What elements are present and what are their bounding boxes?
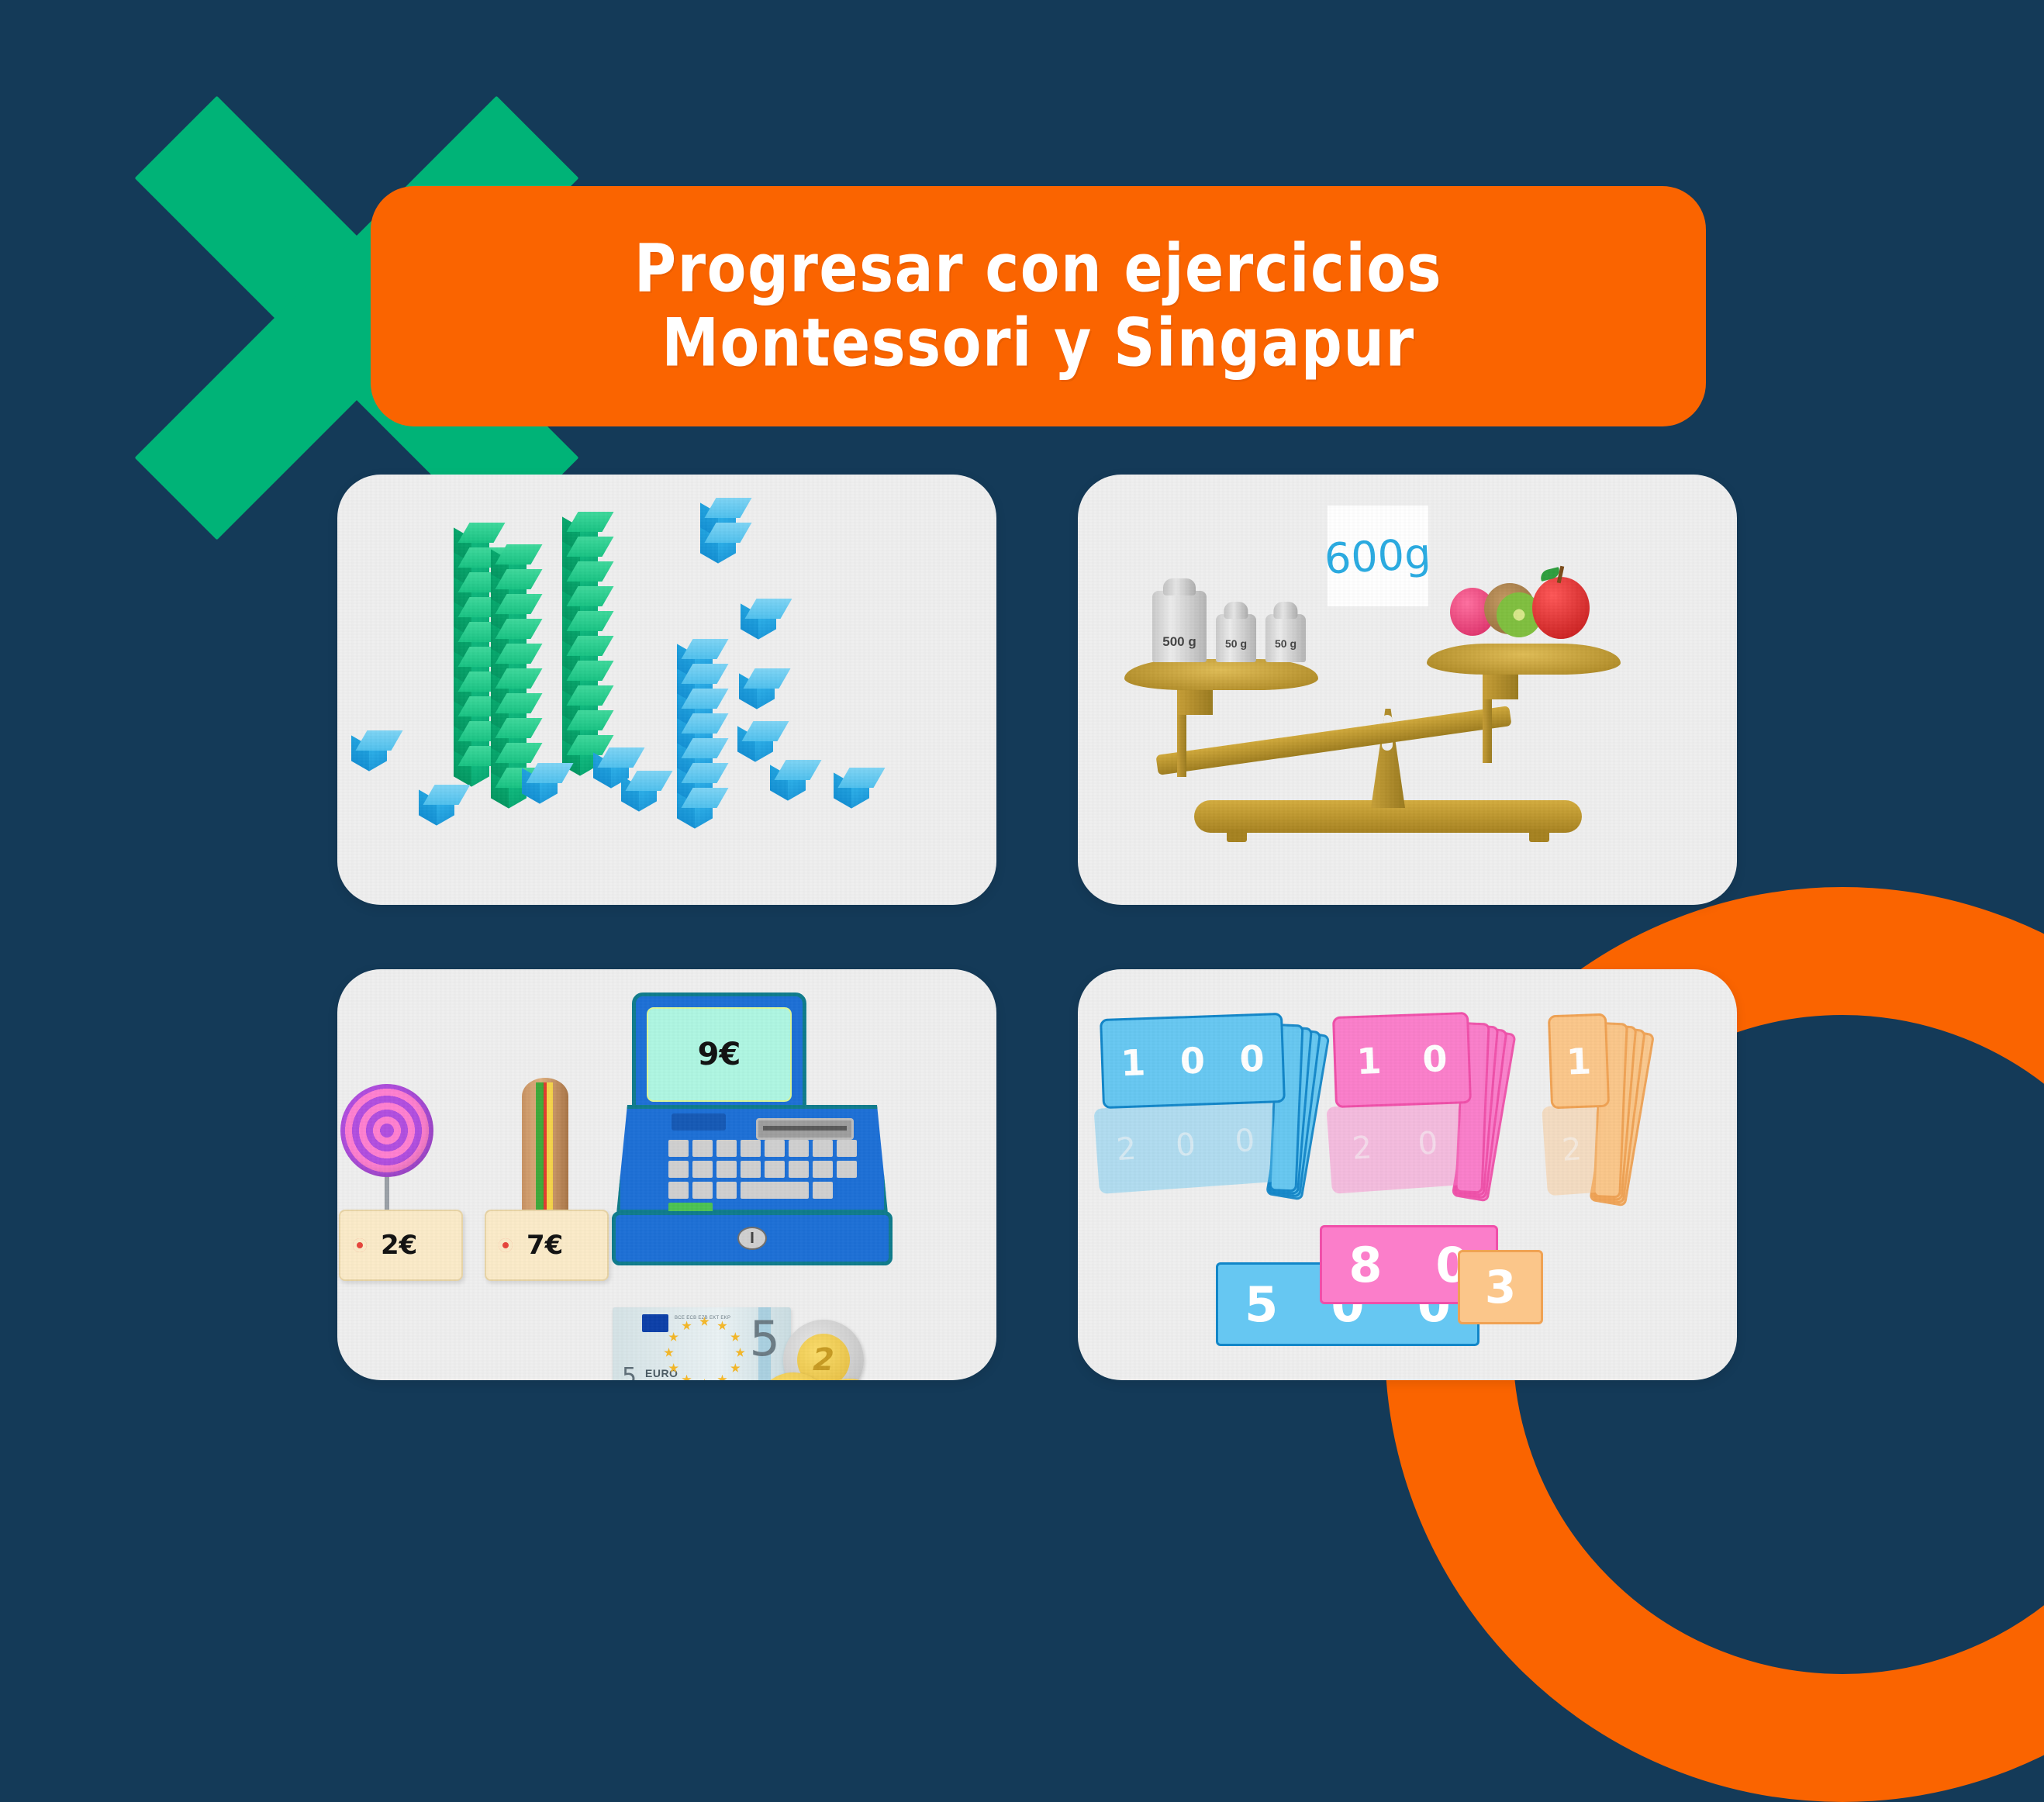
eu-star-icon: [730, 1332, 741, 1342]
weight-500g-label: 500 g: [1162, 634, 1196, 662]
place-value-fold-digit: 2: [1561, 1131, 1583, 1169]
eu-stars-icon: [654, 1314, 755, 1380]
place-value-stack-1[interactable]: 21: [1549, 1014, 1650, 1216]
card-balance-scale[interactable]: 600g 500 g 50 g 50 g: [1078, 475, 1737, 905]
money-shop-illustration: 2€ 7€ 9€: [337, 969, 996, 1380]
place-value-digit: 1: [1566, 1040, 1592, 1082]
page-title-line-2: Montessori y Singapur: [634, 306, 1442, 381]
place-value-fold-digit: 0: [1175, 1127, 1197, 1164]
blue-unit-cube: [351, 730, 391, 776]
eu-star-icon: [735, 1348, 745, 1358]
blue-unit-cube: [770, 760, 810, 806]
composed-number-digit: 8: [1348, 1237, 1382, 1293]
place-value-fold-digit: 0: [1234, 1123, 1256, 1160]
price-tag-hole-icon: [353, 1238, 367, 1252]
scale-foot-left: [1227, 830, 1247, 842]
page-title-line-1: Progresar con ejercicios: [634, 232, 1442, 306]
place-value-fold-digit: 0: [1417, 1125, 1439, 1162]
place-value-stack-100[interactable]: 200100: [1101, 1016, 1326, 1210]
scale-pan-left: [1124, 659, 1318, 690]
poster-stage: Progresar con ejercicios Montessori y Si…: [0, 0, 2044, 1538]
handwritten-weight-value: 600g: [1324, 529, 1432, 583]
place-value-card-front-10[interactable]: 10: [1332, 1012, 1472, 1108]
blue-unit-cube: [700, 523, 740, 568]
place-value-card-front-1[interactable]: 1: [1548, 1013, 1610, 1110]
place-value-card-fold-10: 20: [1326, 1098, 1463, 1194]
weight-50g-b: 50 g: [1265, 614, 1306, 662]
place-value-stack-10[interactable]: 2010: [1334, 1014, 1512, 1211]
cash-register-icon: 9€: [616, 992, 927, 1287]
cash-register-drawer: [612, 1211, 893, 1265]
cash-register-total: 9€: [698, 1037, 741, 1072]
blue-unit-cube: [419, 785, 458, 830]
price-tag-hole-icon: [499, 1238, 513, 1252]
place-value-fold-digit: 2: [1351, 1130, 1373, 1167]
cash-register-keypad: [668, 1140, 857, 1220]
place-value-card-front-100[interactable]: 100: [1100, 1013, 1286, 1109]
banknote-5-euro: BCE ECB EZB EKT EKP 5 5 EURO myBlee: [613, 1307, 791, 1380]
cash-register-body: [616, 1105, 888, 1213]
price-tag-lollipop: 2€: [339, 1210, 463, 1281]
lollipop-icon: [340, 1084, 433, 1177]
eu-star-icon: [682, 1320, 692, 1331]
scale-beam: [1155, 706, 1511, 775]
card-place-value[interactable]: 200100201021500803 Place value cards: [1078, 969, 1737, 1380]
card-base-ten-blocks[interactable]: Base ten blocks: [337, 475, 996, 905]
weight-50g-a-label: 50 g: [1225, 637, 1247, 662]
blue-unit-cube: [741, 599, 780, 644]
base-ten-blocks-illustration: [337, 475, 996, 905]
cash-register-knob-icon: [737, 1227, 767, 1250]
coin-2-euro-value: 2: [797, 1334, 850, 1380]
scale-pan-right: [1427, 644, 1621, 675]
cash-register-display: 9€: [647, 1007, 792, 1102]
place-value-card-fold-1: 2: [1542, 1103, 1602, 1196]
composed-number-digit: 3: [1485, 1261, 1516, 1314]
eu-star-icon: [699, 1379, 710, 1380]
price-tag-lollipop-value: 2€: [381, 1230, 417, 1261]
place-value-digit: 0: [1239, 1037, 1265, 1080]
place-value-digit: 1: [1120, 1041, 1146, 1084]
weight-500g: 500 g: [1152, 591, 1207, 662]
page-title: Progresar con ejercicios Montessori y Si…: [634, 232, 1442, 381]
blue-unit-cube: [522, 763, 561, 809]
apple-icon: [1532, 577, 1590, 639]
cash-register-screen-body: 9€: [632, 992, 806, 1117]
coin-2-euro: 2: [783, 1320, 864, 1380]
eu-star-icon: [717, 1375, 727, 1380]
weight-50g-a: 50 g: [1216, 614, 1256, 662]
title-banner: Progresar con ejercicios Montessori y Si…: [371, 186, 1706, 426]
eu-star-icon: [664, 1348, 674, 1358]
blue-unit-cube: [677, 788, 716, 834]
eu-star-icon: [668, 1363, 678, 1373]
eu-star-icon: [730, 1363, 741, 1373]
place-value-card-fold-100: 200: [1093, 1096, 1277, 1194]
banknote-value-small: 5: [622, 1363, 637, 1380]
balance-scale-illustration: 600g 500 g 50 g 50 g: [1078, 475, 1737, 905]
blue-unit-cube: [834, 768, 873, 813]
card-money-shop[interactable]: 2€ 7€ 9€: [337, 969, 996, 1380]
eu-star-icon: [668, 1332, 678, 1342]
composed-number-card-3[interactable]: 3: [1458, 1250, 1543, 1324]
composed-number-digit: 5: [1245, 1276, 1278, 1333]
eu-star-icon: [699, 1317, 710, 1327]
price-tag-sandwich: 7€: [485, 1210, 609, 1281]
place-value-digit: 0: [1179, 1039, 1206, 1082]
place-value-digit: 0: [1422, 1037, 1448, 1080]
eu-star-icon: [682, 1375, 692, 1380]
cash-register-tab: [672, 1113, 726, 1131]
place-value-digit: 1: [1356, 1040, 1383, 1082]
blue-unit-cube: [739, 668, 779, 714]
weight-50g-b-label: 50 g: [1275, 637, 1296, 662]
place-value-fold-digit: 2: [1115, 1131, 1138, 1169]
blue-unit-cube: [621, 771, 661, 816]
eu-star-icon: [717, 1320, 727, 1331]
handwritten-weight-label: 600g: [1328, 506, 1428, 606]
scale-foot-right: [1529, 830, 1549, 842]
price-tag-sandwich-value: 7€: [527, 1230, 563, 1261]
place-value-illustration: 200100201021500803: [1078, 969, 1737, 1380]
cash-register-receipt-slot: [756, 1118, 854, 1140]
